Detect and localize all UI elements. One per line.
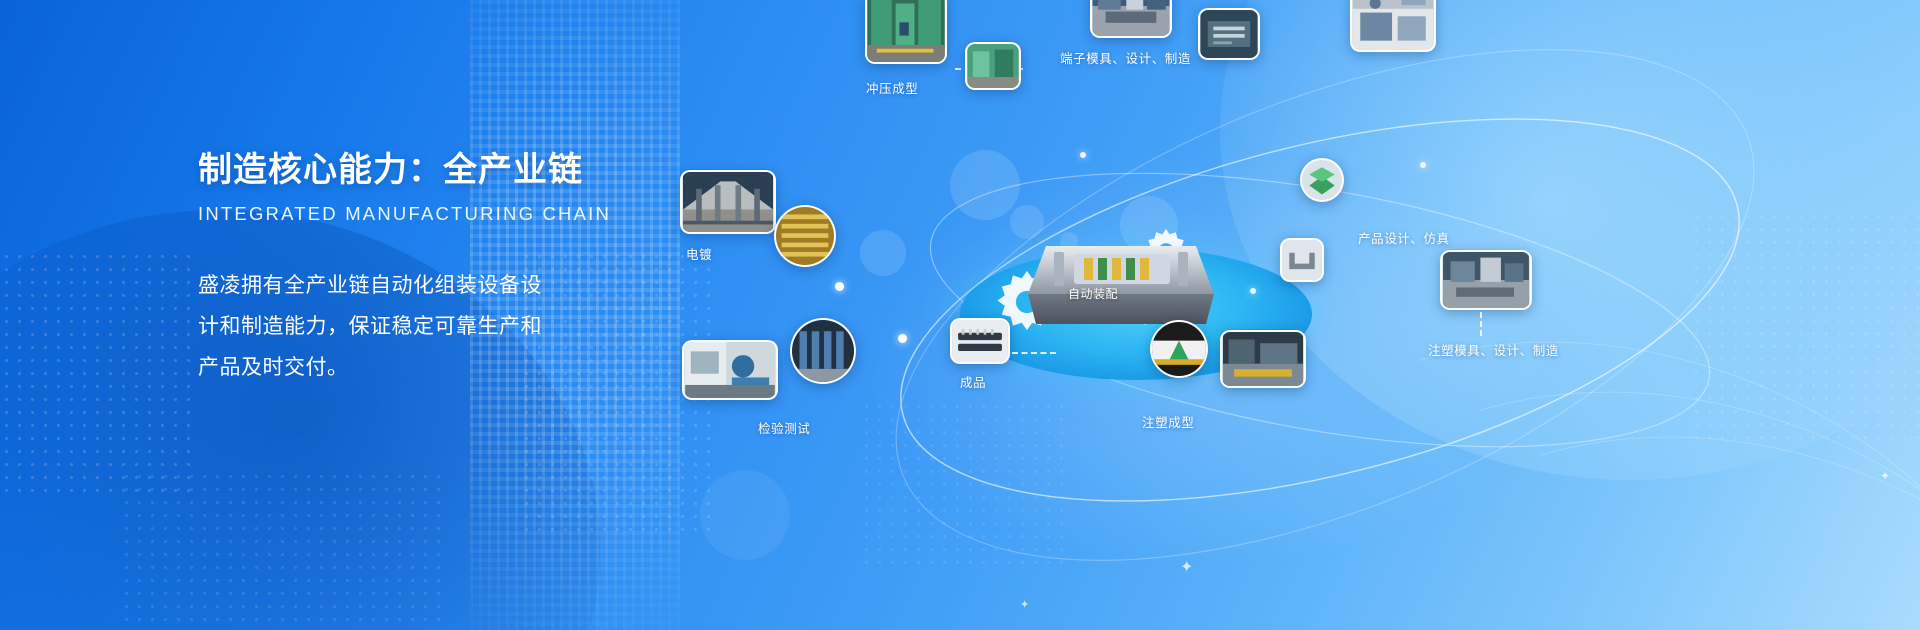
orbit-node-dot — [1420, 162, 1426, 168]
node-label-terminal-mold: 端子模具、设计、制造 — [1060, 48, 1191, 67]
inspection-lab-photo — [684, 342, 776, 398]
gold-terminal-strip-photo — [776, 207, 834, 265]
green-machine-photo — [967, 44, 1019, 88]
node-label-injection-mold: 注塑模具、设计、制造 — [1428, 340, 1559, 359]
description-line: 产品及时交付。 — [198, 347, 618, 388]
node-stamping-image[interactable] — [865, 0, 947, 64]
page-title: 制造核心能力：全产业链 — [198, 142, 618, 191]
orbit-node-dot — [835, 282, 844, 291]
factory-line-photo — [682, 172, 774, 232]
node-terminal-mold-image[interactable] — [1090, 0, 1172, 38]
hero-banner: ✦ ✦ ✦ 制造核心能力：全产业链 INTEGRATED MANUFACTURI… — [0, 0, 1920, 630]
node-injection-form-image[interactable] — [1150, 320, 1208, 378]
bubble-decoration — [700, 470, 790, 560]
production-line-photo — [1222, 332, 1304, 386]
node-coil-image[interactable] — [774, 205, 836, 267]
injection-molding-photo — [1152, 322, 1206, 376]
node-inspection-image[interactable] — [682, 340, 778, 400]
hero-copy-block: 制造核心能力：全产业链 INTEGRATED MANUFACTURING CHA… — [198, 142, 618, 388]
injection-mold-photo — [1442, 252, 1530, 308]
assembly-machine-graphic — [1028, 228, 1214, 332]
description-line: 盛凌拥有全产业链自动化组装设备设 — [198, 265, 618, 306]
node-label-injection-form: 注塑成型 — [1142, 412, 1194, 431]
test-rack-photo — [792, 320, 854, 382]
node-label-finished-goods: 成品 — [960, 372, 986, 391]
description-line: 计和制造能力，保证稳定可靠生产和 — [198, 306, 618, 347]
dot-grid-left — [0, 250, 200, 500]
node-finished-goods-image[interactable] — [950, 318, 1010, 364]
node-label-stamping: 冲压成型 — [866, 78, 918, 97]
node-plating-image[interactable] — [680, 170, 776, 234]
cad-design-photo — [1352, 0, 1434, 50]
node-product-design-image[interactable] — [1350, 0, 1436, 52]
node-small-part-image[interactable] — [1280, 238, 1324, 282]
node-test-rack-image[interactable] — [790, 318, 856, 384]
manufacturing-chain-diagram: 自动装配 电镀 — [780, 0, 1920, 630]
node-green-cube-image[interactable] — [1300, 158, 1344, 202]
dot-grid-lower-left — [120, 470, 450, 630]
node-pcb-image[interactable] — [1198, 8, 1260, 60]
node-green-machine-image[interactable] — [965, 42, 1021, 90]
connector-product-photo — [952, 320, 1008, 362]
orbit-node-dot — [1080, 152, 1086, 158]
stamping-machine-photo — [867, 0, 945, 62]
node-label-plating: 电镀 — [686, 244, 712, 263]
page-subtitle: INTEGRATED MANUFACTURING CHAIN — [198, 203, 618, 225]
node-injection-mold-image[interactable] — [1440, 250, 1532, 310]
connector-dash — [1012, 352, 1056, 354]
node-production-line-image[interactable] — [1220, 330, 1306, 388]
orbit-rings — [780, 0, 1920, 630]
center-label: 自动装配 — [1068, 285, 1118, 302]
mold-workshop-photo — [1092, 0, 1170, 36]
connector-dash — [1480, 312, 1482, 336]
hero-description: 盛凌拥有全产业链自动化组装设备设 计和制造能力，保证稳定可靠生产和 产品及时交付… — [198, 265, 618, 388]
node-label-inspection: 检验测试 — [758, 418, 810, 437]
node-label-product-design: 产品设计、仿真 — [1358, 228, 1450, 247]
green-component-photo — [1302, 160, 1342, 200]
orbit-node-dot — [1250, 288, 1256, 294]
pcb-assembly-photo — [1200, 10, 1258, 58]
orbit-node-dot — [898, 334, 907, 343]
metal-part-photo — [1282, 240, 1322, 280]
